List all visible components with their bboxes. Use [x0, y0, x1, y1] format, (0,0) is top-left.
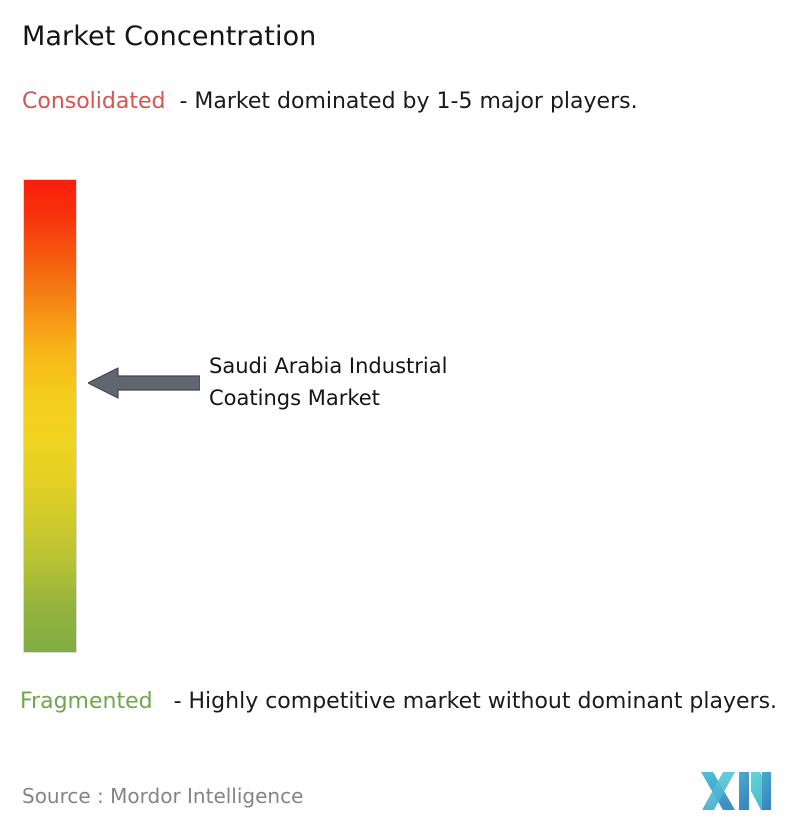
legend-consolidated-description: Market dominated by 1-5 major players. — [194, 89, 637, 114]
marker-label-line2: Coatings Market — [209, 382, 609, 414]
legend-fragmented: Fragmented - Highly competitive market w… — [20, 686, 782, 717]
marker-label: Saudi Arabia Industrial Coatings Market — [209, 350, 609, 414]
marker-label-line1: Saudi Arabia Industrial — [209, 350, 609, 382]
market-concentration-infographic: Market Concentration Consolidated - Mark… — [0, 0, 796, 834]
page-title: Market Concentration — [22, 20, 316, 54]
legend-consolidated-term: Consolidated — [22, 89, 165, 114]
legend-fragmented-description: Highly competitive market without domina… — [189, 689, 778, 714]
legend-consolidated-separator: - — [165, 89, 194, 114]
marker-arrow — [88, 365, 200, 401]
concentration-gradient-bar — [24, 180, 76, 652]
source-line: Source : Mordor Intelligence — [22, 783, 303, 809]
legend-consolidated: Consolidated - Market dominated by 1-5 m… — [22, 86, 770, 117]
legend-fragmented-term: Fragmented — [20, 689, 153, 714]
legend-fragmented-separator: - — [153, 689, 189, 714]
mordor-intelligence-logo-icon — [699, 766, 773, 816]
source-value: Mordor Intelligence — [110, 784, 303, 808]
source-label: Source : — [22, 784, 104, 808]
